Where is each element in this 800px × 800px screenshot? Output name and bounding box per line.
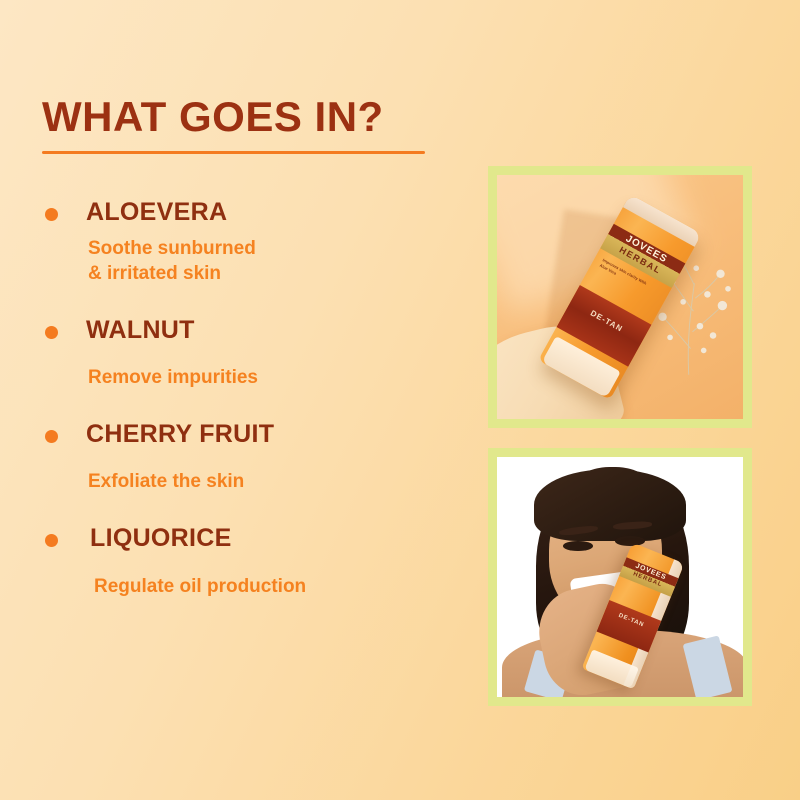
product-photo: JOVEES HERBAL Improves skin clarity With… xyxy=(497,175,743,419)
page-title: WHAT GOES IN? xyxy=(42,95,442,139)
ingredient-name: WALNUT xyxy=(86,316,442,345)
model-eye-right xyxy=(615,536,645,546)
ingredient-description: Remove impurities xyxy=(86,365,442,390)
model-eye-left xyxy=(563,541,593,551)
list-item-cherry-fruit: CHERRY FRUIT Exfoliate the skin xyxy=(42,420,442,494)
ingredient-name: CHERRY FRUIT xyxy=(86,420,442,449)
list-item-aloevera: ALOEVERA Soothe sunburned & irritated sk… xyxy=(42,198,442,286)
list-item-liquorice: LIQUORICE Regulate oil production xyxy=(42,524,442,600)
ingredient-description: Exfoliate the skin xyxy=(86,469,442,494)
bullet-icon xyxy=(45,430,58,443)
bullet-icon xyxy=(45,326,58,339)
list-item-walnut: WALNUT Remove impurities xyxy=(42,316,442,390)
ingredient-description: Soothe sunburned & irritated skin xyxy=(86,236,442,286)
ingredient-name: LIQUORICE xyxy=(90,524,442,553)
bullet-icon xyxy=(45,534,58,547)
product-photo-frame: JOVEES HERBAL Improves skin clarity With… xyxy=(488,166,752,428)
bullet-icon xyxy=(45,208,58,221)
ingredient-description: Regulate oil production xyxy=(90,574,442,599)
ingredients-panel: WHAT GOES IN? ALOEVERA Soothe sunburned … xyxy=(42,95,442,599)
model-photo: JOVEES HERBAL DE-TAN Face Wash xyxy=(497,457,743,697)
model-hair-front xyxy=(534,469,687,541)
ingredient-name: ALOEVERA xyxy=(86,198,442,227)
model-photo-frame: JOVEES HERBAL DE-TAN Face Wash xyxy=(488,448,752,706)
title-underline xyxy=(42,151,425,154)
ingredient-list: ALOEVERA Soothe sunburned & irritated sk… xyxy=(42,198,442,599)
